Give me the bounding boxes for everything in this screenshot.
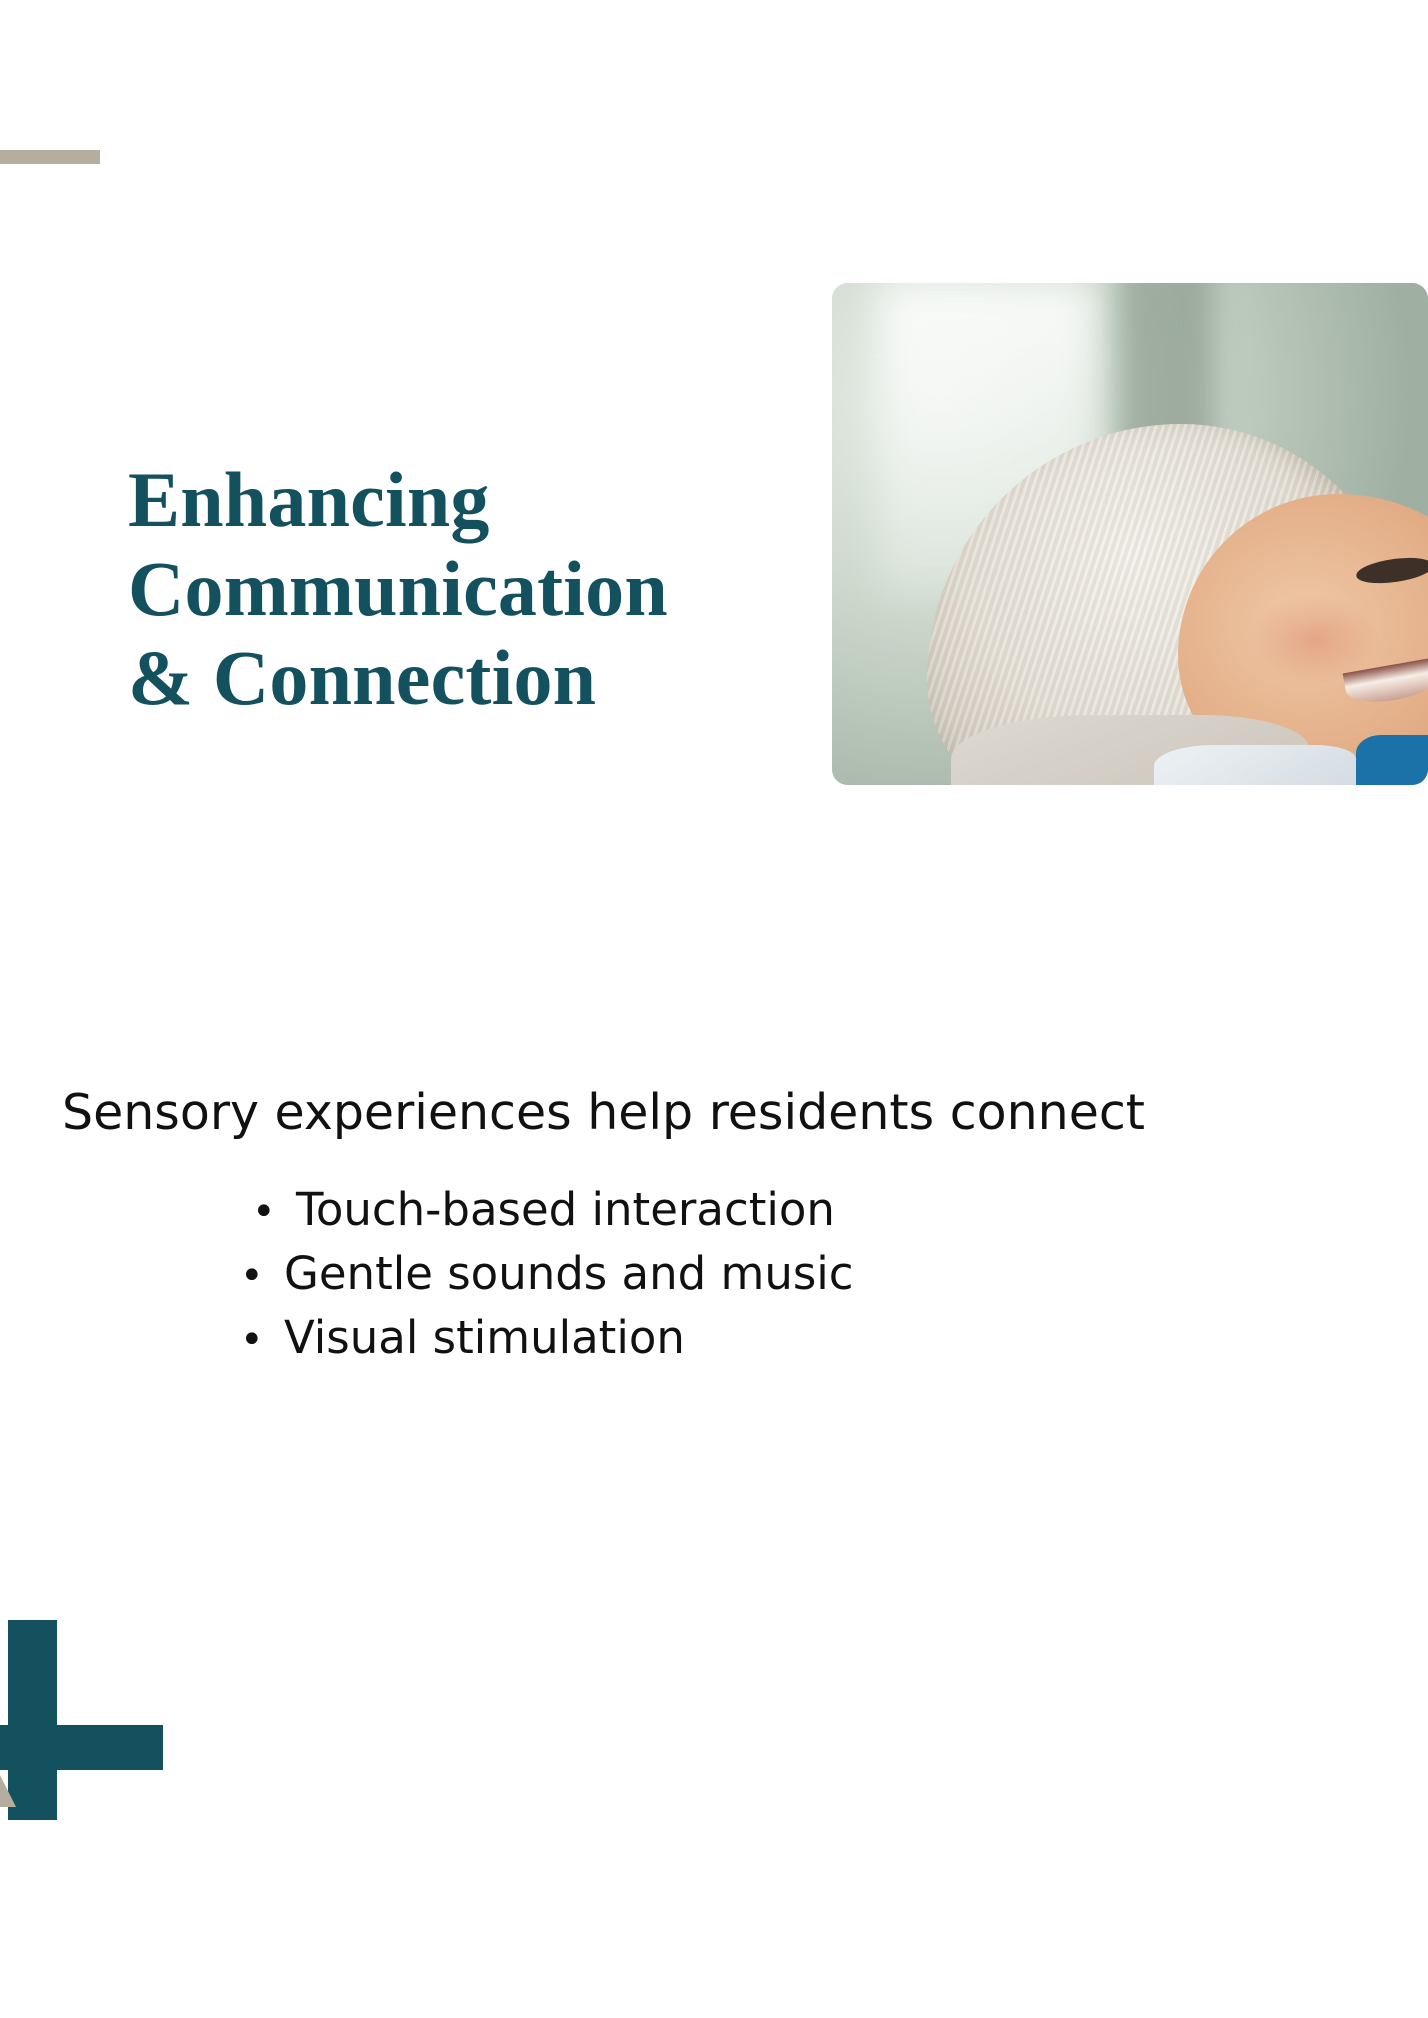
list-item-label: Touch-based interaction bbox=[296, 1178, 835, 1242]
plus-vertical-bar bbox=[8, 1620, 57, 1820]
bullet-marker-icon: • bbox=[240, 1256, 284, 1296]
lead-paragraph: Sensory experiences help residents conne… bbox=[62, 1082, 1428, 1143]
corner-decoration-shape bbox=[0, 150, 100, 310]
plus-horizontal-bar bbox=[0, 1725, 163, 1770]
plus-decoration-icon bbox=[0, 1620, 165, 1820]
page-title: Enhancing Communication & Connection bbox=[128, 456, 768, 723]
list-item: • Gentle sounds and music bbox=[240, 1242, 854, 1306]
bullet-marker-icon: • bbox=[240, 1320, 284, 1360]
resident-photo bbox=[832, 283, 1428, 785]
page-title-line-2: Communication bbox=[128, 545, 768, 634]
page-title-line-3: & Connection bbox=[128, 634, 768, 723]
page-title-line-1: Enhancing bbox=[128, 456, 768, 545]
list-item-label: Gentle sounds and music bbox=[284, 1242, 854, 1306]
list-item: • Visual stimulation bbox=[240, 1306, 854, 1370]
corner-chip-decoration bbox=[0, 1775, 16, 1807]
list-item: • Touch-based interaction bbox=[240, 1178, 854, 1242]
list-item-label: Visual stimulation bbox=[284, 1306, 685, 1370]
bullet-marker-icon: • bbox=[252, 1192, 296, 1232]
corner-decoration-cutout bbox=[0, 164, 114, 324]
photo-blue-accent bbox=[1356, 735, 1428, 785]
slide-canvas: Enhancing Communication & Connection Sen… bbox=[0, 0, 1428, 2018]
feature-list: • Touch-based interaction • Gentle sound… bbox=[240, 1178, 854, 1370]
photo-scarf bbox=[1154, 745, 1357, 785]
